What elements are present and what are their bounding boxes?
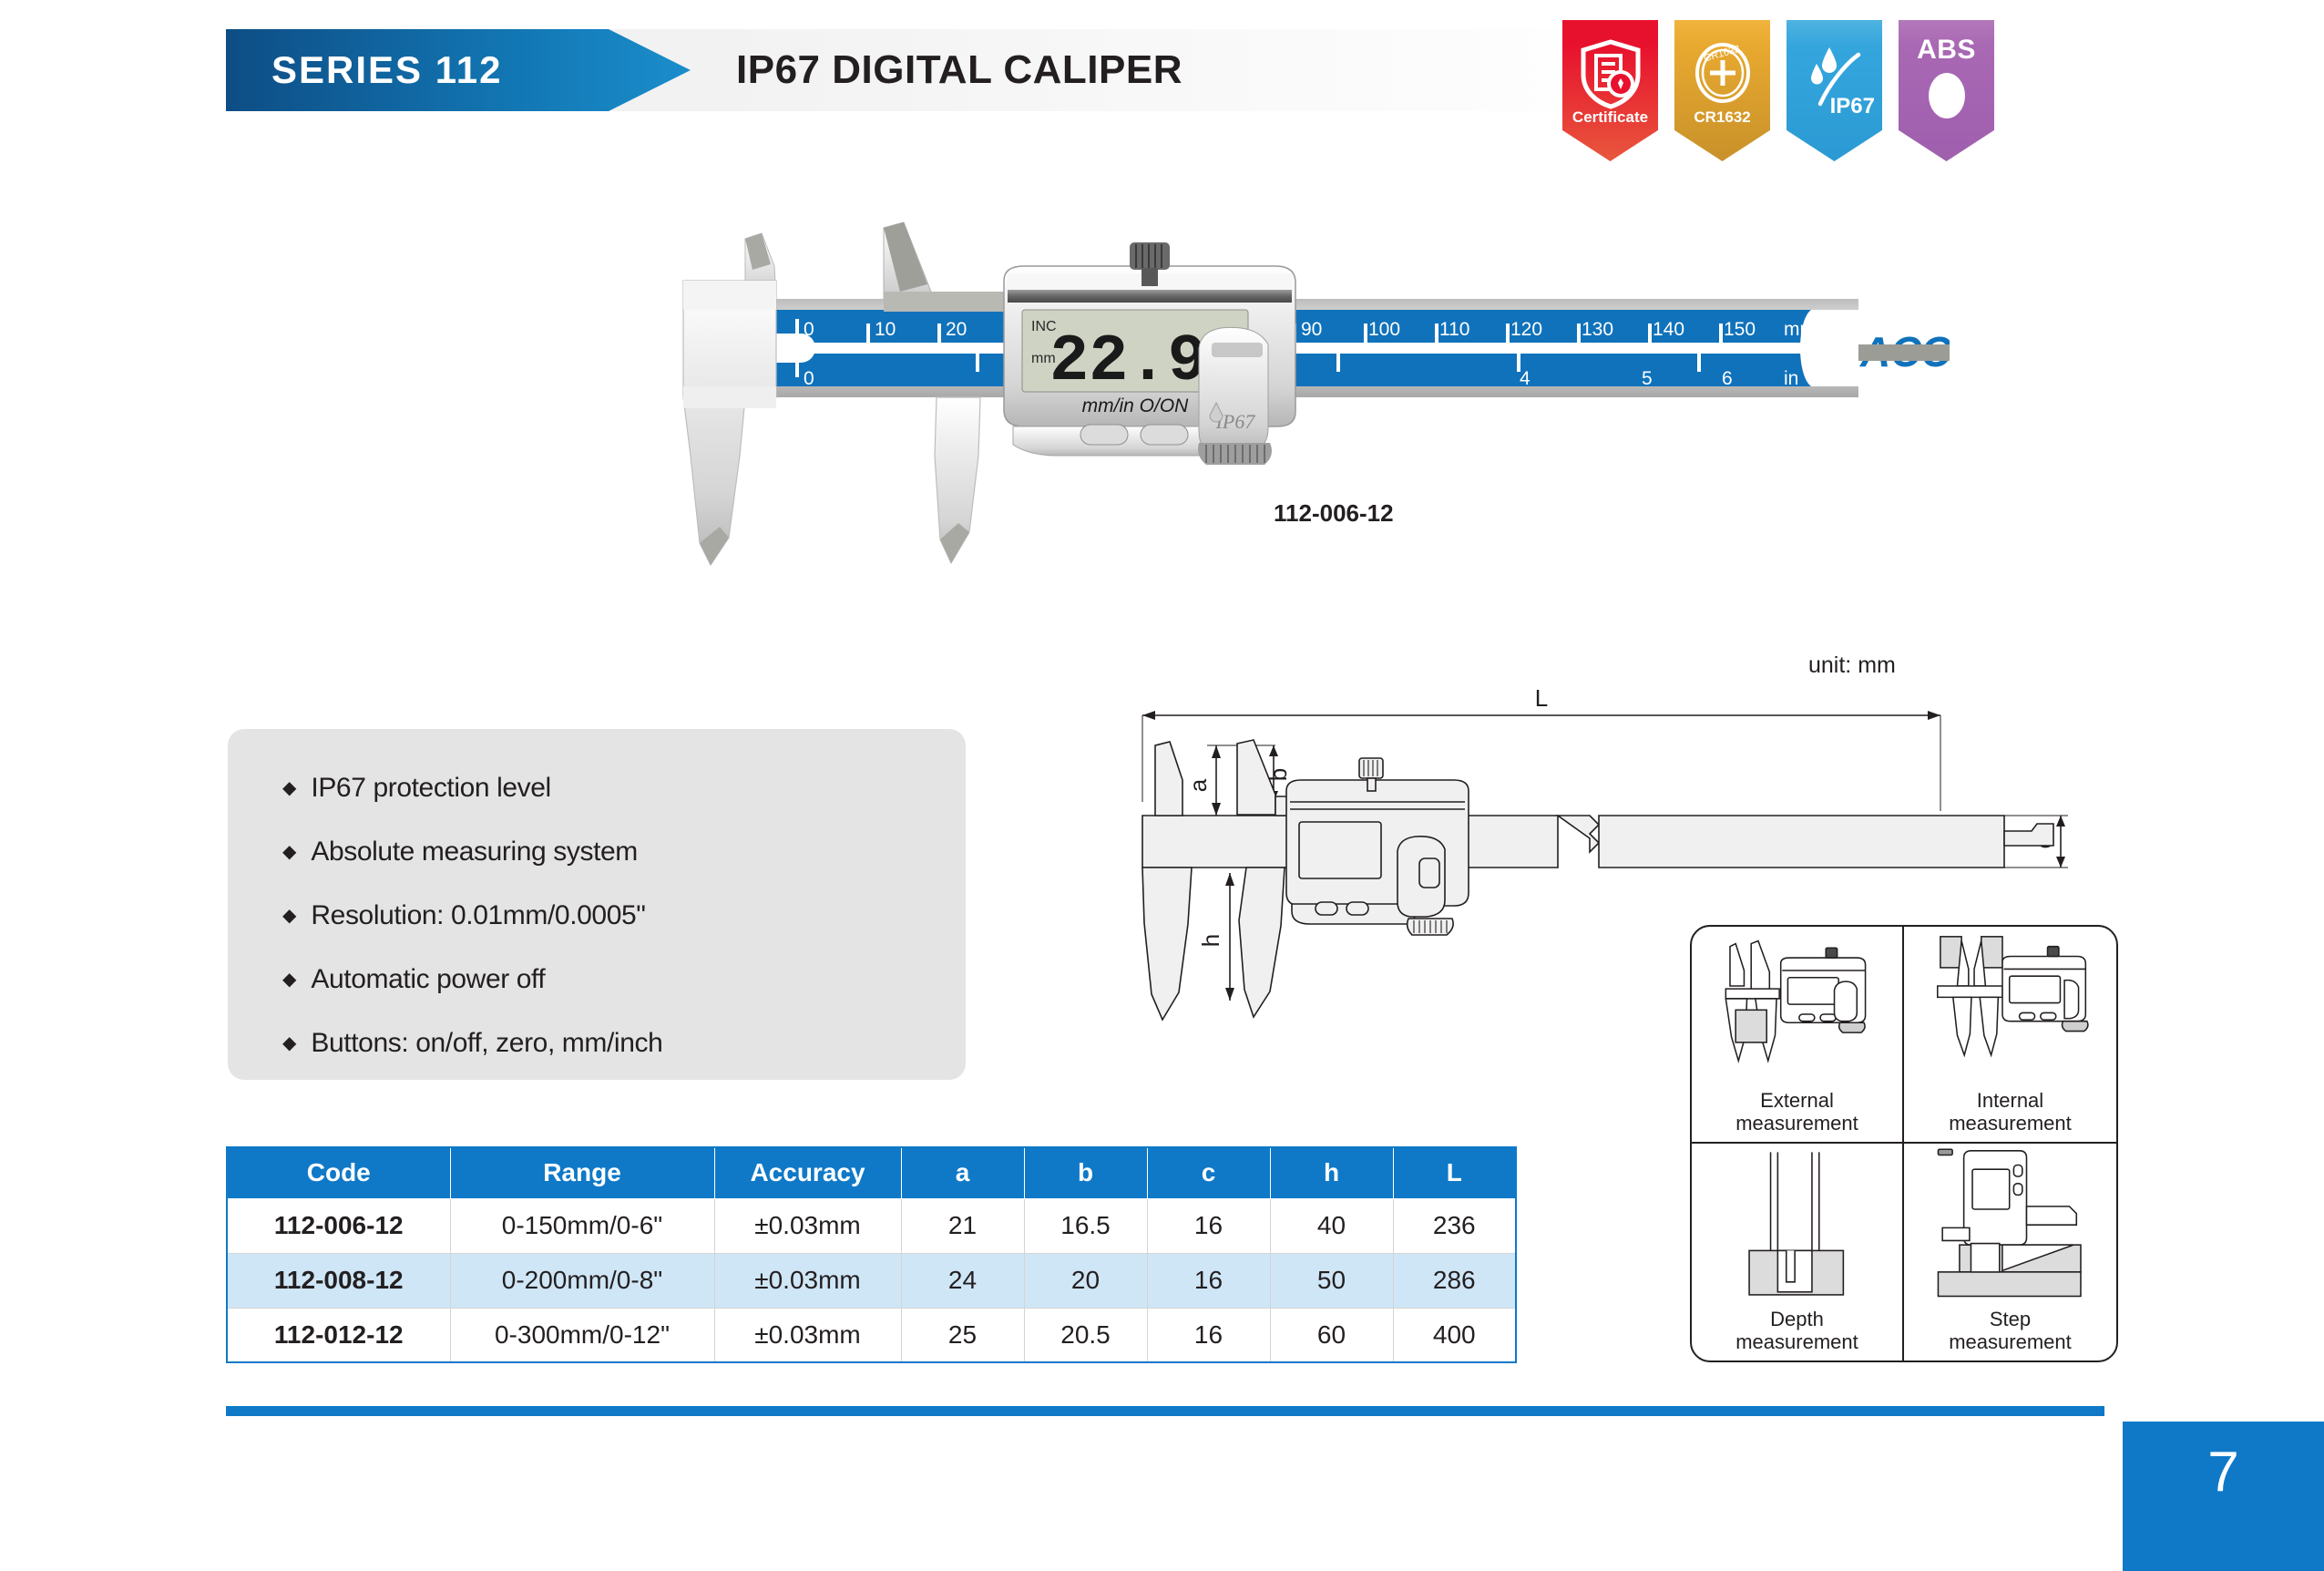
label-line1: External <box>1760 1089 1834 1112</box>
label-line2: measurement <box>1949 1112 2072 1135</box>
feature-label: IP67 protection level <box>311 773 550 804</box>
certificate-badge: Certificate <box>1562 20 1658 161</box>
column-header-c: c <box>1147 1147 1270 1198</box>
cell-L: 400 <box>1393 1308 1516 1362</box>
feature-label: Buttons: on/off, zero, mm/inch <box>311 1028 662 1059</box>
external-measurement-label: External measurement <box>1692 1089 1902 1142</box>
abs-circle-icon <box>1929 73 1965 118</box>
label-line1: Depth <box>1770 1308 1824 1330</box>
series-tag-label: SERIES 112 <box>271 48 502 92</box>
abs-badge: ABS <box>1899 20 1994 161</box>
button-row-labels: mm/in O/ON <box>1082 395 1190 416</box>
cell-accuracy: ±0.03mm <box>714 1308 901 1362</box>
svg-text:0: 0 <box>804 368 814 389</box>
svg-text:110: 110 <box>1439 319 1469 340</box>
feature-item: ◆ Resolution: 0.01mm/0.0005" <box>282 900 966 931</box>
svg-text:150: 150 <box>1724 319 1756 340</box>
column-header-code: Code <box>227 1147 450 1198</box>
internal-measurement-label: Internal measurement <box>1904 1089 2116 1142</box>
cell-h: 40 <box>1270 1198 1393 1253</box>
feature-item: ◆ Automatic power off <box>282 964 966 995</box>
svg-text:a: a <box>1184 778 1212 792</box>
diamond-bullet-icon: ◆ <box>282 837 296 868</box>
cell-L: 236 <box>1393 1198 1516 1253</box>
external-measurement-icon <box>1692 927 1902 1089</box>
column-header-range: Range <box>450 1147 714 1198</box>
cell-accuracy: ±0.03mm <box>714 1253 901 1308</box>
cell-range: 0-300mm/0-12" <box>450 1308 714 1362</box>
product-code-caption: 112-006-12 <box>1274 499 1394 528</box>
cell-range: 0-200mm/0-8" <box>450 1253 714 1308</box>
svg-text:5: 5 <box>1642 368 1653 389</box>
cell-L: 286 <box>1393 1253 1516 1308</box>
internal-measurement: Internal measurement <box>1904 927 2116 1144</box>
footer-divider <box>226 1406 2104 1416</box>
feature-item: ◆ Absolute measuring system <box>282 837 966 868</box>
cell-a: 24 <box>901 1253 1024 1308</box>
svg-text:140: 140 <box>1653 319 1684 340</box>
label-line1: Step <box>1990 1308 2031 1330</box>
cell-range: 0-150mm/0-6" <box>450 1198 714 1253</box>
feature-label: Resolution: 0.01mm/0.0005" <box>311 900 645 931</box>
page-title: IP67 DIGITAL CALIPER <box>736 29 1182 111</box>
svg-text:6: 6 <box>1722 368 1733 389</box>
feature-item: ◆ IP67 protection level <box>282 773 966 804</box>
page-number-box: 7 <box>2123 1422 2324 1571</box>
external-measurement: External measurement <box>1692 927 1904 1144</box>
cell-b: 20.5 <box>1024 1308 1147 1362</box>
specifications-table: Code Range Accuracy a b c h L 112-006-12… <box>226 1146 1517 1363</box>
depth-measurement-icon <box>1692 1144 1902 1308</box>
cell-code: 112-006-12 <box>227 1198 450 1253</box>
label-line1: Internal <box>1977 1089 2043 1112</box>
feature-label: Absolute measuring system <box>311 837 638 868</box>
cell-a: 21 <box>901 1198 1024 1253</box>
diamond-bullet-icon: ◆ <box>282 964 296 995</box>
internal-measurement-icon <box>1904 927 2116 1089</box>
svg-text:20: 20 <box>946 319 967 340</box>
svg-text:L: L <box>1535 684 1548 712</box>
diamond-bullet-icon: ◆ <box>282 1028 296 1059</box>
battery-badge-label: CR1632 <box>1674 108 1770 127</box>
cell-c: 16 <box>1147 1198 1270 1253</box>
table-row: 112-012-12 0-300mm/0-12" ±0.03mm 25 20.5… <box>227 1308 1516 1362</box>
column-header-L: L <box>1393 1147 1516 1198</box>
diamond-bullet-icon: ◆ <box>282 773 296 804</box>
column-header-a: a <box>901 1147 1024 1198</box>
cell-c: 16 <box>1147 1308 1270 1362</box>
svg-text:in: in <box>1784 368 1798 389</box>
svg-text:100: 100 <box>1368 319 1400 340</box>
step-measurement-icon <box>1904 1144 2116 1308</box>
label-line2: measurement <box>1735 1112 1858 1135</box>
column-header-h: h <box>1270 1147 1393 1198</box>
cell-h: 60 <box>1270 1308 1393 1362</box>
cell-b: 16.5 <box>1024 1198 1147 1253</box>
page-number: 7 <box>2207 1440 2238 1504</box>
feature-item: ◆ Buttons: on/off, zero, mm/inch <box>282 1028 966 1059</box>
svg-text:90: 90 <box>1301 319 1322 340</box>
table-row: 112-008-12 0-200mm/0-8" ±0.03mm 24 20 16… <box>227 1253 1516 1308</box>
diamond-bullet-icon: ◆ <box>282 900 296 931</box>
features-box: ◆ IP67 protection level ◆ Absolute measu… <box>228 729 966 1080</box>
svg-text:130: 130 <box>1582 319 1613 340</box>
label-line2: measurement <box>1949 1330 2072 1353</box>
measurement-modes-panel: External measurement <box>1690 925 2118 1362</box>
cell-a: 25 <box>901 1308 1024 1362</box>
series-tag: SERIES 112 <box>226 29 691 111</box>
certificate-badge-label: Certificate <box>1562 108 1658 127</box>
svg-text:120: 120 <box>1510 319 1542 340</box>
certification-badges: Certificate CR1632 CR1632 <box>1562 20 1994 161</box>
page-header: SERIES 112 IP67 DIGITAL CALIPER <box>226 29 1647 111</box>
column-header-accuracy: Accuracy <box>714 1147 901 1198</box>
battery-badge: CR1632 CR1632 <box>1674 20 1770 161</box>
depth-measurement: Depth measurement <box>1692 1144 1904 1361</box>
step-measurement-label: Step measurement <box>1904 1308 2116 1361</box>
step-measurement: Step measurement <box>1904 1144 2116 1361</box>
ip67-badge-inner-text: IP67 <box>1830 94 1875 119</box>
catalog-page: SERIES 112 IP67 DIGITAL CALIPER Certific… <box>0 0 2324 1571</box>
abs-badge-label: ABS <box>1917 35 1976 66</box>
ip67-badge: IP67 <box>1787 20 1882 161</box>
cell-accuracy: ±0.03mm <box>714 1198 901 1253</box>
certificate-shield-icon <box>1578 38 1643 109</box>
column-header-b: b <box>1024 1147 1147 1198</box>
coin-battery-icon: CR1632 <box>1690 38 1756 109</box>
cell-h: 50 <box>1270 1253 1393 1308</box>
product-photo: 0 10 20 80 90 100 110 120 130 140 150 mm <box>583 182 1950 592</box>
svg-text:10: 10 <box>875 319 896 340</box>
svg-text:4: 4 <box>1520 368 1531 389</box>
feature-label: Automatic power off <box>311 964 545 995</box>
table-header-row: Code Range Accuracy a b c h L <box>227 1147 1516 1198</box>
cell-code: 112-012-12 <box>227 1308 450 1362</box>
label-line2: measurement <box>1735 1330 1858 1353</box>
cell-code: 112-008-12 <box>227 1253 450 1308</box>
cell-b: 20 <box>1024 1253 1147 1308</box>
table-row: 112-006-12 0-150mm/0-6" ±0.03mm 21 16.5 … <box>227 1198 1516 1253</box>
svg-text:h: h <box>1197 934 1224 947</box>
depth-measurement-label: Depth measurement <box>1692 1308 1902 1361</box>
cell-c: 16 <box>1147 1253 1270 1308</box>
